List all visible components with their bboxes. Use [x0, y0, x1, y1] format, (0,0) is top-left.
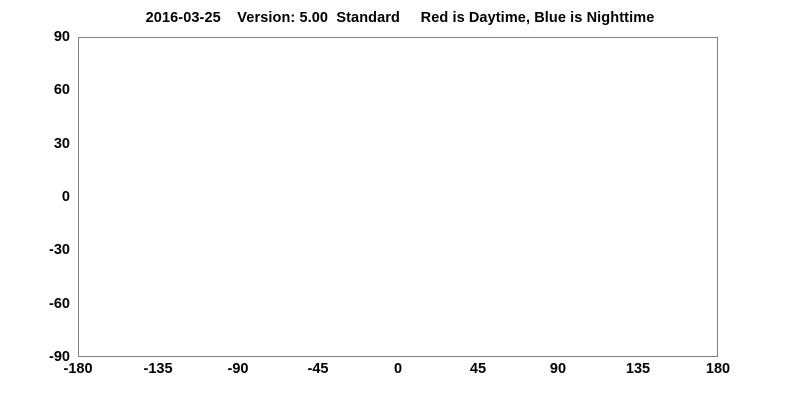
x-tick-label: 90: [528, 361, 588, 377]
plot-frame: [78, 37, 718, 357]
x-tick-label: 180: [688, 361, 748, 377]
x-tick-label: -180: [48, 361, 108, 377]
y-tick-label: 30: [10, 136, 70, 152]
y-tick-label: -30: [10, 242, 70, 258]
y-tick-label: 90: [10, 29, 70, 45]
figure-title: 2016-03-25 Version: 5.00 Standard Red is…: [0, 10, 800, 26]
y-tick-label: 0: [10, 189, 70, 205]
y-tick-label: -60: [10, 296, 70, 312]
x-tick-label: -45: [288, 361, 348, 377]
x-tick-label: 0: [368, 361, 428, 377]
y-tick-label: -90: [10, 349, 70, 365]
x-tick-label: 135: [608, 361, 668, 377]
ground-track-map-figure: 2016-03-25 Version: 5.00 Standard Red is…: [0, 0, 800, 400]
x-tick-label: -135: [128, 361, 188, 377]
y-tick-label: 60: [10, 82, 70, 98]
x-tick-label: -90: [208, 361, 268, 377]
x-tick-label: 45: [448, 361, 508, 377]
plot-area: [78, 37, 718, 357]
